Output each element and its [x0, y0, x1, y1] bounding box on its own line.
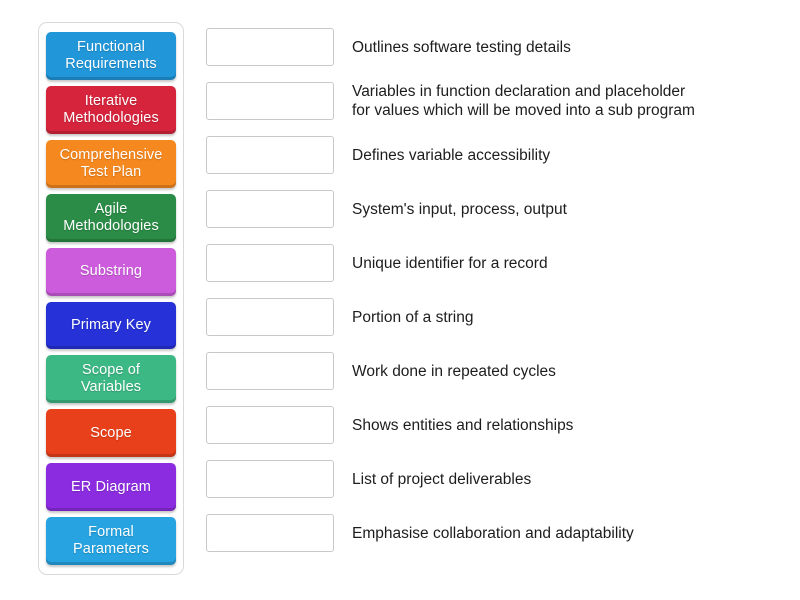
answer-tile[interactable]: Functional Requirements: [46, 32, 176, 80]
answer-tile[interactable]: Scope: [46, 409, 176, 457]
match-row: Variables in function declaration and pl…: [206, 82, 786, 120]
draggable-tiles-panel: Functional RequirementsIterative Methodo…: [38, 22, 184, 575]
match-row: Emphasise collaboration and adaptability: [206, 514, 786, 552]
answer-drop-box[interactable]: [206, 460, 334, 498]
answer-drop-box[interactable]: [206, 298, 334, 336]
match-row: Defines variable accessibility: [206, 136, 786, 174]
match-row: Work done in repeated cycles: [206, 352, 786, 390]
match-row: Outlines software testing details: [206, 28, 786, 66]
answer-tile[interactable]: Scope of Variables: [46, 355, 176, 403]
answer-drop-box[interactable]: [206, 406, 334, 444]
answer-drop-box[interactable]: [206, 352, 334, 390]
match-row: Unique identifier for a record: [206, 244, 786, 282]
answer-tile[interactable]: Agile Methodologies: [46, 194, 176, 242]
answer-tile[interactable]: Comprehensive Test Plan: [46, 140, 176, 188]
match-row: Shows entities and relationships: [206, 406, 786, 444]
answer-tile[interactable]: ER Diagram: [46, 463, 176, 511]
definition-text: Defines variable accessibility: [352, 146, 550, 165]
answer-tile[interactable]: Iterative Methodologies: [46, 86, 176, 134]
definition-text: Outlines software testing details: [352, 38, 571, 57]
definition-text: System's input, process, output: [352, 200, 567, 219]
answer-drop-box[interactable]: [206, 136, 334, 174]
answer-drop-box[interactable]: [206, 82, 334, 120]
definition-text: List of project deliverables: [352, 470, 531, 489]
answer-drop-box[interactable]: [206, 514, 334, 552]
answer-drop-box[interactable]: [206, 28, 334, 66]
definition-text: Unique identifier for a record: [352, 254, 548, 273]
definition-text: Portion of a string: [352, 308, 473, 327]
match-row: List of project deliverables: [206, 460, 786, 498]
answer-drop-box[interactable]: [206, 244, 334, 282]
match-row: Portion of a string: [206, 298, 786, 336]
definition-text: Shows entities and relationships: [352, 416, 573, 435]
definition-text: Work done in repeated cycles: [352, 362, 556, 381]
activity-root: Functional RequirementsIterative Methodo…: [0, 0, 800, 600]
answer-tile[interactable]: Primary Key: [46, 302, 176, 350]
definition-text: Emphasise collaboration and adaptability: [352, 524, 634, 543]
answer-drop-box[interactable]: [206, 190, 334, 228]
answer-rows-list: Outlines software testing detailsVariabl…: [206, 28, 786, 568]
match-row: System's input, process, output: [206, 190, 786, 228]
definition-text: Variables in function declaration and pl…: [352, 82, 695, 120]
answer-tile[interactable]: Substring: [46, 248, 176, 296]
answer-tile[interactable]: Formal Parameters: [46, 517, 176, 565]
